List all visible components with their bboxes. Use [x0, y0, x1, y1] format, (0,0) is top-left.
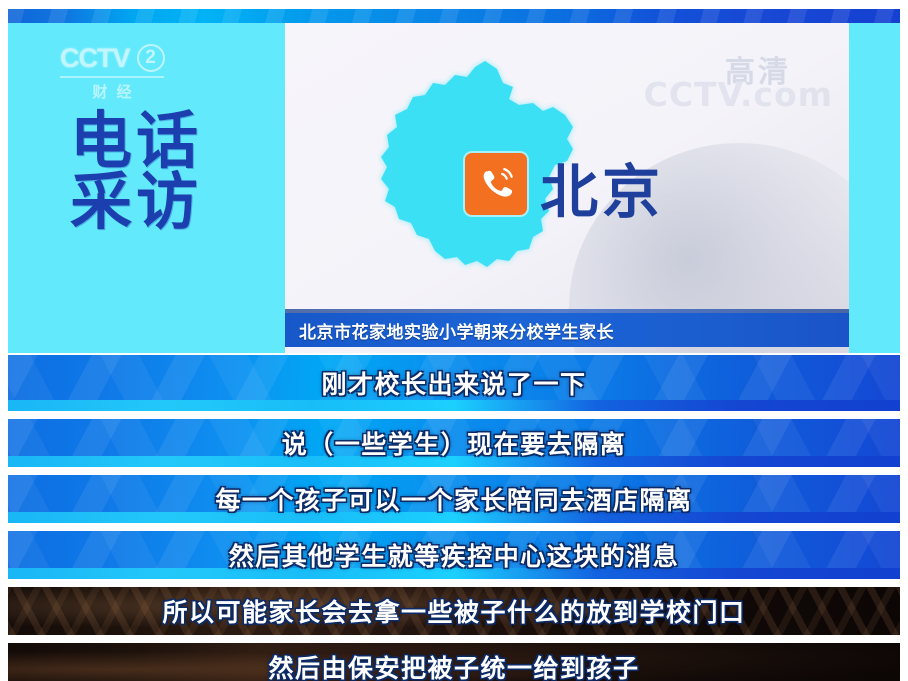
top-gradient-rail: [8, 9, 900, 23]
upper-stage: CCTV 2 财经 电话 采访 高清 CCTV.com: [8, 23, 900, 353]
cctv-2-finance-logo: CCTV 2 财经: [60, 41, 200, 103]
cctv-logo-row: CCTV 2: [60, 41, 200, 75]
cctv-channel-number: 2: [137, 44, 165, 72]
subtitle-band-2: 说（一些学生）现在要去隔离: [8, 419, 900, 467]
right-cyan-sliver: [849, 23, 900, 353]
site-watermark-label: CCTV.com: [644, 75, 833, 114]
band-gap: [8, 467, 900, 475]
map-panel: 高清 CCTV.com 北京 北京市花家地实验小学朝来分校学生家长: [285, 23, 849, 353]
band-gap: [8, 411, 900, 419]
subtitle-text: 然后由保安把被子统一给到孩子: [268, 649, 639, 681]
subtitle-text: 说（一些学生）现在要去隔离: [282, 425, 627, 461]
broadcast-watermark: 高清 CCTV.com: [605, 41, 835, 113]
headline-line-2: 采访: [70, 172, 202, 233]
band-gap: [8, 635, 900, 643]
subtitle-text: 每一个孩子可以一个家长陪同去酒店隔离: [215, 481, 692, 517]
subtitle-text: 然后其他学生就等疾控中心这块的消息: [229, 537, 680, 573]
band-gap: [8, 579, 900, 587]
cctv-logo-underline: [60, 76, 164, 78]
page-title: 电话 采访: [70, 111, 202, 233]
cctv-wordmark: CCTV: [60, 43, 130, 74]
subtitle-stack: 刚才校长出来说了一下 说（一些学生）现在要去隔离 每一个孩子可以一个家长陪同去酒…: [8, 355, 900, 675]
brand-panel: CCTV 2 财经 电话 采访: [8, 23, 285, 353]
hd-watermark-label: 高清: [725, 47, 791, 91]
subtitle-band-3: 每一个孩子可以一个家长陪同去酒店隔离: [8, 475, 900, 523]
band-gap: [8, 523, 900, 531]
tv-broadcast-screenshot: CCTV 2 财经 电话 采访 高清 CCTV.com: [0, 0, 908, 681]
subtitle-band-6: 然后由保安把被子统一给到孩子: [8, 643, 900, 681]
subtitle-band-1: 刚才校长出来说了一下: [8, 355, 900, 411]
headline-line-1: 电话: [70, 111, 202, 172]
lower-third-caption: 北京市花家地实验小学朝来分校学生家长: [285, 313, 849, 347]
cctv-logo-subtitle: 财经: [60, 81, 164, 102]
subtitle-text: 刚才校长出来说了一下: [321, 365, 586, 401]
caption-text: 北京市花家地实验小学朝来分校学生家长: [299, 318, 614, 343]
subtitle-band-5: 所以可能家长会去拿一些被子什么的放到学校门口: [8, 587, 900, 635]
subtitle-band-4: 然后其他学生就等疾控中心这块的消息: [8, 531, 900, 579]
subtitle-text: 所以可能家长会去拿一些被子什么的放到学校门口: [162, 593, 745, 629]
phone-call-icon: [465, 153, 527, 215]
city-label: 北京: [540, 145, 664, 229]
